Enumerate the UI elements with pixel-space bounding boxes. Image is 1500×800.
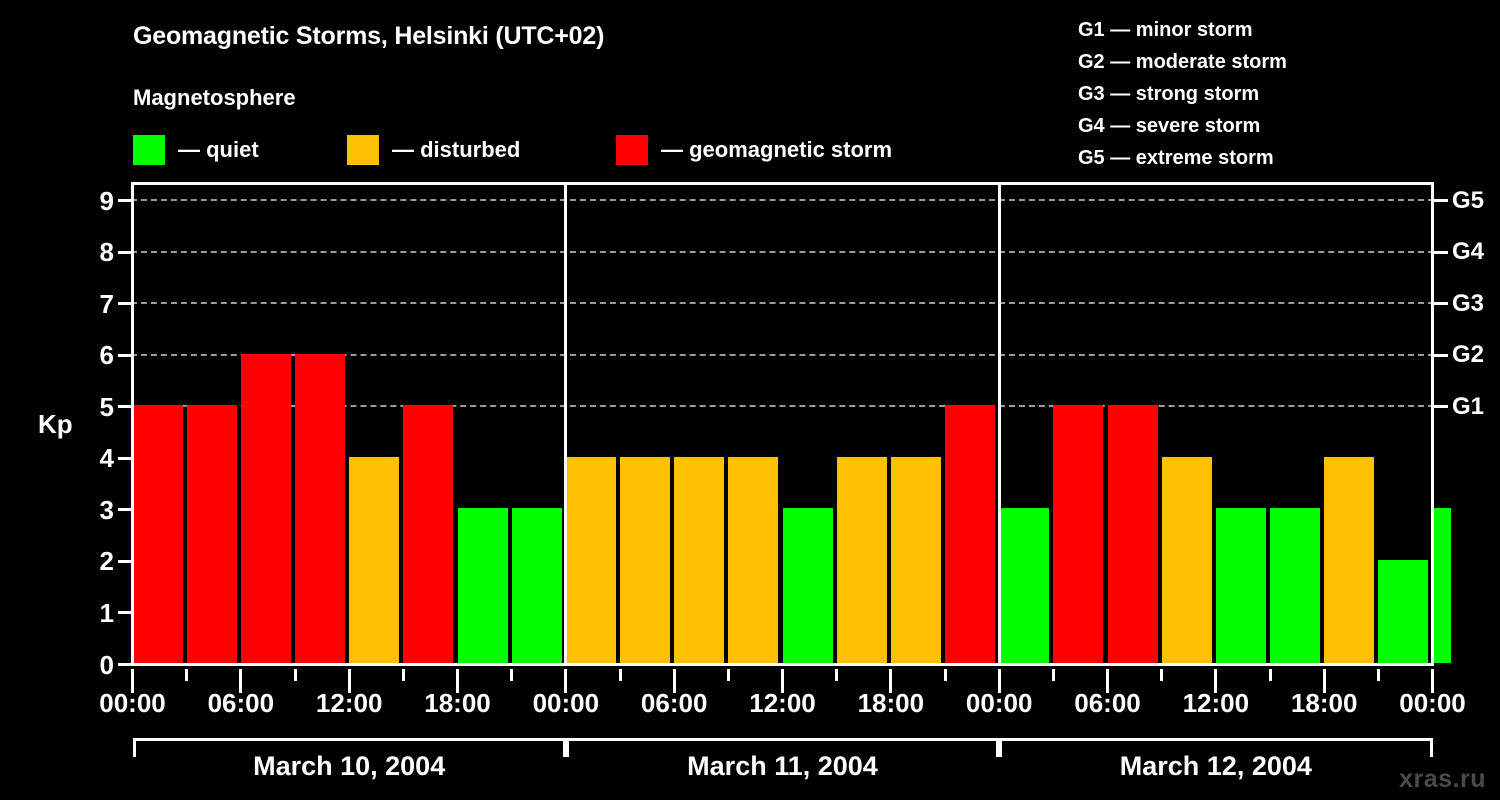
x-tick-minor-57 [1160,669,1163,681]
y-axis-title: Kp [38,409,73,440]
chart-canvas: Geomagnetic Storms, Helsinki (UTC+02) Ma… [0,0,1500,800]
bar-kp-17 [1053,405,1103,663]
x-tick-minor-21 [510,669,513,681]
g-tick-label-G3: G3 [1452,292,1484,316]
bar-kp-20 [1216,508,1266,663]
x-tick-minor-27 [619,669,622,681]
y-tick-label-3: 3 [100,497,114,523]
x-tick-minor-69 [1377,669,1380,681]
g-tick-G5 [1434,199,1448,202]
g-tick-label-G1: G1 [1452,395,1484,419]
g-tick-G4 [1434,251,1448,254]
bar-kp-11 [728,457,778,663]
x-tick-minor-9 [294,669,297,681]
x-tick-label-10: 12:00 [1183,690,1250,716]
y-tick-label-9: 9 [100,188,114,214]
y-tick-label-4: 4 [100,445,114,471]
x-tick-label-5: 06:00 [641,690,708,716]
g-tick-label-G4: G4 [1452,240,1484,264]
bar-kp-13 [837,457,887,663]
bar-kp-19 [1162,457,1212,663]
gscale-legend-line-1: G1 — minor storm [1078,14,1287,46]
y-tick-6 [118,354,131,357]
y-tick-label-8: 8 [100,239,114,265]
disturbed-swatch [347,135,379,165]
bar-kp-6 [458,508,508,663]
bar-kp-5 [403,405,453,663]
y-tick-1 [118,611,131,614]
x-tick-minor-3 [185,669,188,681]
x-tick-label-6: 12:00 [749,690,816,716]
y-tick-label-6: 6 [100,342,114,368]
watermark: xras.ru [1399,765,1486,794]
y-tick-8 [118,251,131,254]
bar-kp-2 [241,354,291,663]
y-tick-3 [118,508,131,511]
y-tick-9 [118,199,131,202]
day-bracket-tick-3-0 [999,738,1002,757]
bar-kp-22 [1324,457,1374,663]
x-tick-label-1: 06:00 [208,690,275,716]
bar-kp-10 [674,457,724,663]
legend-label: — geomagnetic storm [661,139,892,161]
bar-kp-15 [945,405,995,663]
y-tick-label-5: 5 [100,394,114,420]
day-bracket-line-1 [133,738,566,741]
day-label-1: March 10, 2004 [253,753,445,780]
day-bracket-tick-3-1 [1430,738,1433,757]
bar-kp-21 [1270,508,1320,663]
quiet-swatch [133,135,165,165]
gridline-kp-7 [131,302,1434,304]
gridline-kp-9 [131,199,1434,201]
bar-kp-14 [891,457,941,663]
gscale-legend-line-3: G3 — strong storm [1078,78,1287,110]
g-tick-G1 [1434,405,1448,408]
bar-kp-18 [1108,405,1158,663]
x-tick-minor-15 [402,669,405,681]
y-tick-0 [118,663,131,666]
page-title: Geomagnetic Storms, Helsinki (UTC+02) [133,22,604,51]
y-tick-label-1: 1 [100,600,114,626]
x-tick-label-8: 00:00 [966,690,1033,716]
day-bracket-line-2 [566,738,999,741]
bar-kp-16 [999,508,1049,663]
gscale-legend-line-2: G2 — moderate storm [1078,46,1287,78]
day-separator-hour-48 [998,182,1001,666]
gscale-legend-line-4: G4 — severe storm [1078,110,1287,142]
y-tick-4 [118,457,131,460]
day-label-3: March 12, 2004 [1120,753,1312,780]
x-tick-label-12: 00:00 [1399,690,1466,716]
x-tick-label-11: 18:00 [1291,690,1358,716]
day-bracket-line-3 [999,738,1432,741]
y-tick-2 [118,560,131,563]
day-bracket-tick-2-0 [566,738,569,757]
legend-item-0: — quiet [133,134,259,166]
bar-kp-12 [783,508,833,663]
x-tick-minor-45 [944,669,947,681]
legend-item-1: — disturbed [347,134,520,166]
x-tick-minor-39 [835,669,838,681]
bar-kp-1 [187,405,237,663]
x-tick-minor-51 [1052,669,1055,681]
y-tick-label-2: 2 [100,548,114,574]
y-tick-5 [118,405,131,408]
g-tick-G2 [1434,354,1448,357]
legend-label: — disturbed [392,139,520,161]
bar-kp-3 [295,354,345,663]
x-tick-minor-63 [1269,669,1272,681]
gscale-legend: G1 — minor stormG2 — moderate stormG3 — … [1078,14,1287,174]
g-tick-label-G2: G2 [1452,343,1484,367]
x-tick-label-0: 00:00 [99,690,166,716]
x-tick-label-9: 06:00 [1074,690,1141,716]
section-label: Magnetosphere [133,85,296,111]
bar-kp-7 [512,508,562,663]
gridline-kp-8 [131,251,1434,253]
legend-label: — quiet [178,139,259,161]
x-tick-label-7: 18:00 [858,690,925,716]
y-tick-7 [118,302,131,305]
x-tick-minor-33 [727,669,730,681]
bar-kp-8 [566,457,616,663]
x-tick-label-4: 00:00 [533,690,600,716]
x-axis-labels: 00:0006:0012:0018:0000:0006:0012:0018:00… [0,690,1500,726]
bar-kp-23 [1378,560,1428,663]
day-separator-hour-24 [564,182,567,666]
legend-item-2: — geomagnetic storm [616,134,892,166]
plot-area [131,182,1434,666]
bar-kp-0 [133,405,183,663]
day-label-2: March 11, 2004 [687,753,878,780]
g-tick-G3 [1434,302,1448,305]
x-tick-label-3: 18:00 [424,690,491,716]
x-tick-label-2: 12:00 [316,690,383,716]
bar-kp-9 [620,457,670,663]
day-brackets: March 10, 2004March 11, 2004March 12, 20… [0,738,1500,798]
g-tick-label-G5: G5 [1452,189,1484,213]
y-tick-label-7: 7 [100,291,114,317]
gscale-legend-line-5: G5 — extreme storm [1078,142,1287,174]
bar-kp-4 [349,457,399,663]
day-bracket-tick-1-0 [133,738,136,757]
storm-swatch [616,135,648,165]
